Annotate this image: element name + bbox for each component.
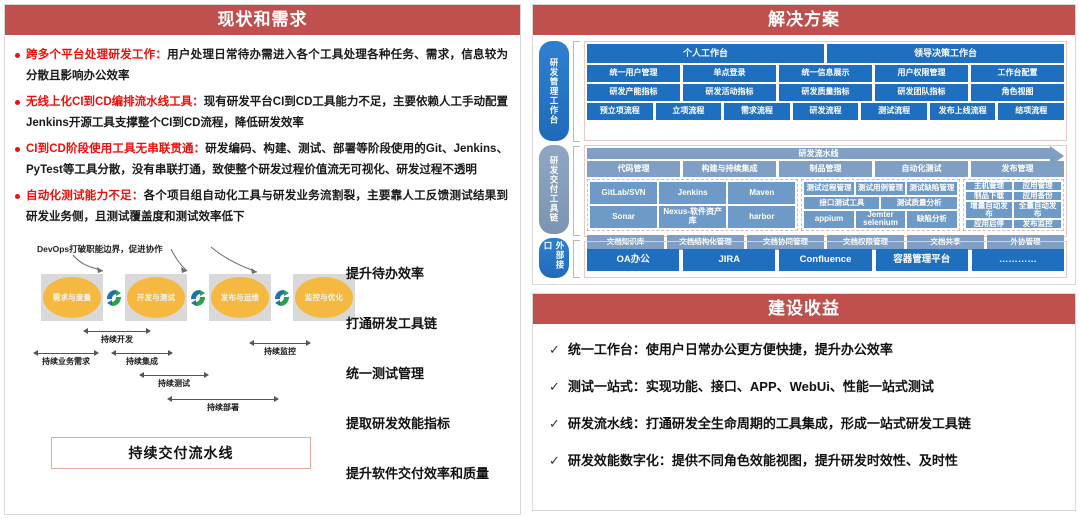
- span-label: 持续开发: [83, 334, 151, 345]
- benefit-line: 打通研发工具链: [346, 313, 520, 332]
- check-icon: ✓: [549, 453, 560, 469]
- list-item: 跨多个平台处理研发工作：用户处理日常待办需进入各个工具处理各种任务、需求，信息较…: [15, 45, 508, 86]
- continuous-delivery-pipeline-box: 持续交付流水线: [51, 437, 311, 469]
- span-measure: 持续部署: [167, 393, 279, 415]
- workbench-cell[interactable]: 研发团队指标: [875, 84, 968, 101]
- tool-cell[interactable]: appium: [804, 211, 853, 228]
- tool-cell[interactable]: 应用管理: [1014, 182, 1061, 190]
- workbench-cell[interactable]: 研发质量指标: [779, 84, 872, 101]
- tool-row: appium Jemter selenium 缺陷分析: [804, 211, 956, 228]
- benefit-text: 研发流水线：打通研发全生命周期的工具集成，形成一站式研发工具链: [568, 416, 971, 432]
- right-column: 解决方案 研发管理工作台 研发交付工具链 外部接口: [532, 0, 1080, 519]
- benefit-line: 统一测试管理: [346, 363, 520, 382]
- tool-row: 增量自动发布 全量自动发布: [966, 202, 1061, 218]
- span-measure: 持续开发: [83, 325, 151, 347]
- devops-stage-label: 监控与优化: [295, 277, 353, 318]
- workbench-row: 统一用户管理 单点登录 统一信息展示 用户权限管理 工作台配置: [587, 65, 1064, 82]
- benefit-title: 测试一站式：: [568, 379, 646, 394]
- bracket-icon: [573, 146, 580, 236]
- benefit-line: 提取研发效能指标: [346, 413, 520, 432]
- tool-cell[interactable]: 缺陷分析: [907, 211, 956, 228]
- span-measure: 持续测试: [139, 369, 209, 391]
- benefits-panel: 建设收益 ✓ 统一工作台：使用户日常办公更方便快捷，提升办公效率 ✓ 测试一站式…: [532, 293, 1076, 511]
- workbench-cell[interactable]: 结项流程: [998, 103, 1064, 120]
- workbench-cell[interactable]: 用户权限管理: [875, 65, 968, 82]
- tool-cell[interactable]: Jenkins: [659, 182, 726, 204]
- benefit-text: 统一工作台：使用户日常办公更方便快捷，提升办公效率: [568, 342, 893, 358]
- tool-cell[interactable]: 制品下载: [966, 192, 1013, 200]
- tool-row: Sonar Nexus-软件资产库 harbor: [590, 206, 795, 228]
- benefits-list: ✓ 统一工作台：使用户日常办公更方便快捷，提升办公效率 ✓ 测试一站式：实现功能…: [533, 324, 1075, 500]
- benefit-line: 提升软件交付效率和质量: [346, 463, 520, 482]
- span-measure: 持续监控: [249, 337, 311, 359]
- benefit-text: 研发效能数字化：提供不同角色效能视图，提升研发时效性、及时性: [568, 453, 958, 469]
- list-item: 自动化测试能力不足：各个项目组自动化工具与研发业务流割裂，主要靠人工反馈测试结果…: [15, 186, 508, 227]
- tool-row: 主机管理 应用管理: [966, 182, 1061, 190]
- left-column: 现状和需求 跨多个平台处理研发工作：用户处理日常待办需进入各个工具处理各种任务、…: [0, 0, 524, 519]
- side-label-workbench: 研发管理工作台: [539, 41, 569, 141]
- external-cell[interactable]: JIRA: [683, 249, 775, 271]
- infinity-icon: [271, 278, 293, 318]
- side-label-toolchain: 研发交付工具链: [539, 145, 569, 234]
- list-item: 无线上化CI到CD编排流水线工具：现有研发平台CI到CD工具能力不足，主要依赖人…: [15, 92, 508, 133]
- benefit-body: 打通研发全生命周期的工具集成，形成一站式研发工具链: [646, 416, 971, 431]
- devops-stage-label: 发布与运维: [211, 277, 269, 318]
- bullet-title: 跨多个平台处理研发工作：: [26, 49, 167, 61]
- benefit-body: 使用户日常办公更方便快捷，提升办公效率: [646, 342, 893, 357]
- tool-cell[interactable]: harbor: [728, 206, 795, 228]
- solution-body: 研发管理工作台 研发交付工具链 外部接口 个人工作台: [533, 35, 1075, 284]
- solution-panel: 解决方案 研发管理工作台 研发交付工具链 外部接口: [532, 4, 1076, 285]
- benefit-body: 提供不同角色效能视图，提升研发时效性、及时性: [672, 453, 958, 468]
- bullet-title: CI到CD阶段使用工具无串联贯通：: [26, 143, 205, 155]
- devops-stage: 发布与运维: [209, 274, 271, 321]
- tool-cell[interactable]: 应用备份: [1014, 192, 1061, 200]
- check-icon: ✓: [549, 379, 560, 395]
- pipeline-stage-cell[interactable]: 构建与持续集成: [683, 161, 776, 177]
- architecture-main: 个人工作台 领导决策工作台 统一用户管理 单点登录 统一信息展示 用户权限管理 …: [584, 41, 1067, 278]
- bullet-list: 跨多个平台处理研发工作：用户处理日常待办需进入各个工具处理各种任务、需求，信息较…: [5, 35, 520, 237]
- span-label: 持续业务需求: [33, 356, 99, 367]
- side-label-external: 外部接口: [539, 238, 569, 278]
- tool-column-deploy: 主机管理 应用管理 制品下载 应用备份 增量自动发布: [963, 179, 1064, 230]
- span-measure: 持续集成: [111, 347, 173, 369]
- benefit-title: 研发效能数字化：: [568, 453, 672, 468]
- slide-root: 现状和需求 跨多个平台处理研发工作：用户处理日常待办需进入各个工具处理各种任务、…: [0, 0, 1080, 519]
- workbench-cell[interactable]: 预立项流程: [587, 103, 653, 120]
- current-status-panel: 现状和需求 跨多个平台处理研发工作：用户处理日常待办需进入各个工具处理各种任务、…: [4, 4, 521, 515]
- pipeline-stage-row: 代码管理 构建与持续集成 制品管理 自动化测试 发布管理: [587, 161, 1064, 177]
- architecture-side-labels: 研发管理工作台 研发交付工具链 外部接口: [539, 41, 569, 278]
- tool-row: GitLab/SVN Jenkins Maven: [590, 182, 795, 204]
- bullet-title: 自动化测试能力不足：: [26, 190, 144, 202]
- pipeline-arrow: 研发流水线: [587, 148, 1050, 159]
- tool-cell[interactable]: 发布监控: [1014, 220, 1061, 228]
- tool-grid: GitLab/SVN Jenkins Maven Sonar Nexus-软件资…: [587, 179, 1064, 230]
- workbench-cell[interactable]: 个人工作台: [587, 44, 824, 63]
- check-icon: ✓: [549, 416, 560, 432]
- external-cell[interactable]: OA办公: [587, 249, 679, 271]
- benefit-line: 提升待办效率: [346, 263, 520, 282]
- workbench-cell[interactable]: 领导决策工作台: [827, 44, 1064, 63]
- current-status-body: 跨多个平台处理研发工作：用户处理日常待办需进入各个工具处理各种任务、需求，信息较…: [5, 35, 520, 514]
- workbench-cell[interactable]: 研发活动指标: [683, 84, 776, 101]
- external-cell[interactable]: 容器管理平台: [876, 249, 968, 271]
- tool-cell[interactable]: Jemter selenium: [856, 211, 905, 228]
- workbench-cell[interactable]: 统一信息展示: [779, 65, 872, 82]
- tool-cell[interactable]: 测试缺陷管理: [907, 182, 956, 194]
- bullet-title: 无线上化CI到CD编排流水线工具：: [26, 96, 204, 108]
- tool-column-code: GitLab/SVN Jenkins Maven Sonar Nexus-软件资…: [587, 179, 798, 230]
- tool-cell[interactable]: 应用启停: [966, 220, 1013, 228]
- list-item: ✓ 测试一站式：实现功能、接口、APP、WebUi、性能一站式测试: [549, 379, 1059, 395]
- workbench-cell[interactable]: 测试流程: [861, 103, 927, 120]
- tool-cell[interactable]: Maven: [728, 182, 795, 204]
- benefit-title: 统一工作台：: [568, 342, 646, 357]
- tool-cell[interactable]: 测试质量分析: [881, 197, 956, 209]
- devops-stage-label: 开发与测试: [127, 277, 185, 318]
- benefit-title: 研发流水线：: [568, 416, 646, 431]
- current-status-header: 现状和需求: [5, 5, 520, 35]
- devops-stage: 需求与度量: [41, 274, 103, 321]
- bracket-icon: [573, 240, 580, 278]
- tool-cell[interactable]: 测试用例管理: [856, 182, 905, 194]
- tool-row: 应用启停 发布监控: [966, 220, 1061, 228]
- devops-diagram: DevOps打破职能边界，促进协作 需求与度量: [11, 241, 514, 473]
- devops-span-group: 持续开发 持续监控 持续业务需求 持续集成: [11, 325, 331, 433]
- check-icon: ✓: [549, 342, 560, 358]
- workbench-cell[interactable]: 工作台配置: [971, 65, 1064, 82]
- external-group: OA办公 JIRA Confluence 容器管理平台 …………: [584, 241, 1067, 278]
- workbench-cell[interactable]: 角色视图: [971, 84, 1064, 101]
- tool-cell[interactable]: 全量自动发布: [1014, 202, 1061, 218]
- workbench-cell[interactable]: 单点登录: [683, 65, 776, 82]
- tool-cell[interactable]: Sonar: [590, 206, 657, 228]
- infinity-icon: [103, 278, 125, 318]
- pipeline-stage-cell[interactable]: 自动化测试: [875, 161, 968, 177]
- tool-column-test: 测试过程管理 测试用例管理 测试缺陷管理 接口测试工具 测试质量分析: [801, 179, 959, 230]
- workbench-row: 预立项流程 立项流程 需求流程 研发流程 测试流程 发布上线流程 结项流程: [587, 103, 1064, 120]
- workbench-cell[interactable]: 研发产能指标: [587, 84, 680, 101]
- infinity-icon: [187, 278, 209, 318]
- benefit-body: 实现功能、接口、APP、WebUi、性能一站式测试: [646, 379, 934, 394]
- workbench-row: 研发产能指标 研发活动指标 研发质量指标 研发团队指标 角色视图: [587, 84, 1064, 101]
- pipeline-stage-cell[interactable]: 代码管理: [587, 161, 680, 177]
- tool-cell[interactable]: 增量自动发布: [966, 202, 1013, 218]
- bracket-icon: [573, 41, 580, 142]
- bracket-group: [573, 41, 580, 278]
- span-label: 持续部署: [167, 402, 279, 413]
- span-label: 持续测试: [139, 378, 209, 389]
- list-item: ✓ 研发效能数字化：提供不同角色效能视图，提升研发时效性、及时性: [549, 453, 1059, 469]
- workbench-cell[interactable]: 统一用户管理: [587, 65, 680, 82]
- tool-cell[interactable]: 接口测试工具: [804, 197, 879, 209]
- workbench-cell[interactable]: 需求流程: [724, 103, 790, 120]
- benefit-text: 测试一站式：实现功能、接口、APP、WebUi、性能一站式测试: [568, 379, 934, 395]
- workbench-cell[interactable]: 研发流程: [793, 103, 859, 120]
- external-cell[interactable]: Confluence: [779, 249, 871, 271]
- benefits-header: 建设收益: [533, 294, 1075, 324]
- devops-stage-label: 需求与度量: [43, 277, 101, 318]
- left-benefit-list: 提升待办效率 打通研发工具链 统一测试管理 提取研发效能指标 提升软件交付效率和…: [346, 263, 520, 513]
- tool-cell[interactable]: Nexus-软件资产库: [659, 206, 726, 228]
- architecture-diagram: 研发管理工作台 研发交付工具链 外部接口 个人工作台: [533, 35, 1075, 284]
- tool-cell[interactable]: 测试过程管理: [804, 182, 853, 194]
- span-label: 持续集成: [111, 356, 173, 367]
- workbench-top-row: 个人工作台 领导决策工作台: [587, 44, 1064, 63]
- pipeline-stage-cell[interactable]: 制品管理: [779, 161, 872, 177]
- workbench-cell[interactable]: 立项流程: [656, 103, 722, 120]
- tool-row: 制品下载 应用备份: [966, 192, 1061, 200]
- list-item: ✓ 研发流水线：打通研发全生命周期的工具集成，形成一站式研发工具链: [549, 416, 1059, 432]
- span-measure: 持续业务需求: [33, 347, 99, 369]
- tool-cell[interactable]: GitLab/SVN: [590, 182, 657, 204]
- tool-row: 测试过程管理 测试用例管理 测试缺陷管理: [804, 182, 956, 194]
- devops-stage: 开发与测试: [125, 274, 187, 321]
- workbench-group: 个人工作台 领导决策工作台 统一用户管理 单点登录 统一信息展示 用户权限管理 …: [584, 41, 1067, 141]
- span-label: 持续监控: [249, 346, 311, 357]
- external-cell[interactable]: …………: [972, 249, 1064, 271]
- list-item: CI到CD阶段使用工具无串联贯通：研发编码、构建、测试、部署等阶段使用的Git、…: [15, 139, 508, 180]
- tool-row: 接口测试工具 测试质量分析: [804, 197, 956, 209]
- toolchain-group: 研发流水线 代码管理 构建与持续集成 制品管理 自动化测试 发布管理: [584, 145, 1067, 237]
- external-row: OA办公 JIRA Confluence 容器管理平台 …………: [587, 249, 1064, 271]
- solution-header: 解决方案: [533, 5, 1075, 35]
- list-item: ✓ 统一工作台：使用户日常办公更方便快捷，提升办公效率: [549, 342, 1059, 358]
- benefits-body: ✓ 统一工作台：使用户日常办公更方便快捷，提升办公效率 ✓ 测试一站式：实现功能…: [533, 324, 1075, 510]
- devops-stage-row: 需求与度量 开发与测试: [41, 274, 355, 321]
- tool-cell[interactable]: 主机管理: [966, 182, 1013, 190]
- workbench-cell[interactable]: 发布上线流程: [930, 103, 996, 120]
